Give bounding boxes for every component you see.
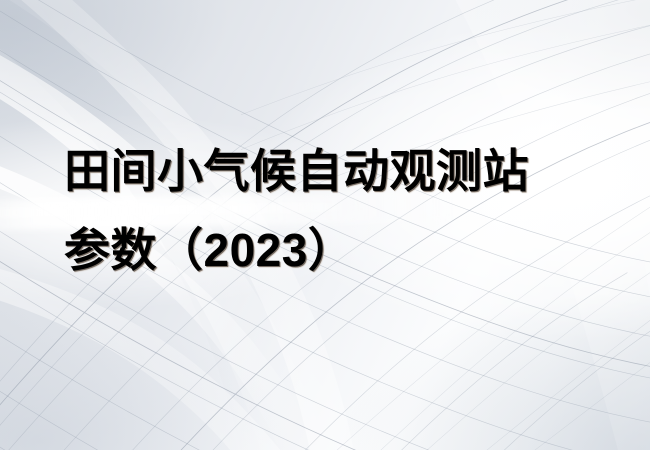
page-title: 田间小气候自动观测站 参数（2023） bbox=[64, 132, 529, 290]
title-banner: 田间小气候自动观测站 参数（2023） bbox=[0, 0, 650, 450]
title-line-1: 田间小气候自动观测站 bbox=[64, 132, 529, 211]
title-line-2: 参数（2023） bbox=[64, 211, 529, 290]
